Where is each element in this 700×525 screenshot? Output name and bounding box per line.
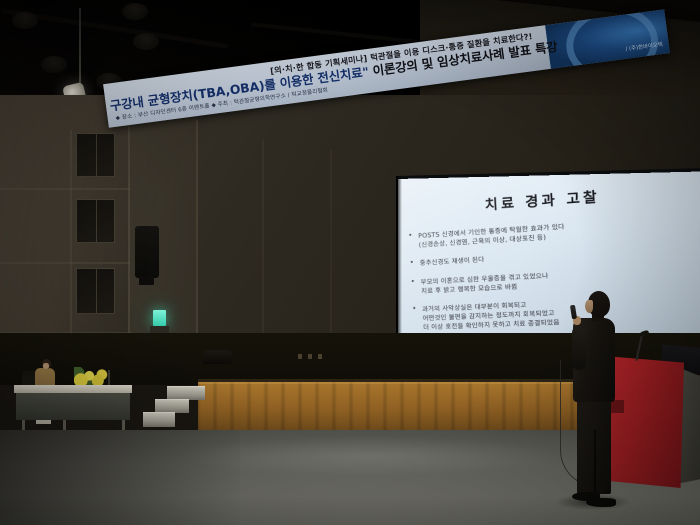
stage-step <box>167 386 205 400</box>
presenter-leg-seam <box>594 430 596 492</box>
slide-bullet: 부모의 이혼으로 심한 우울증을 겪고 있었으나 치료 후 밝고 행복한 모습으… <box>407 263 700 297</box>
stage-step <box>143 412 175 427</box>
presenter-face <box>585 300 593 313</box>
wall-seam <box>262 140 264 340</box>
seated-person-face <box>43 363 49 369</box>
head-table-top <box>14 385 132 393</box>
wall-recess-panel <box>76 133 115 177</box>
presenter-shoe <box>586 498 616 507</box>
wall-recess-panel <box>76 199 115 243</box>
slide-bullet: 과거의 사악상실은 대부분이 회복되고 어떤것인 불편을 감지하는 정도까지 회… <box>408 292 700 333</box>
wall-seam <box>0 188 130 190</box>
table-microphone-icon <box>108 370 110 385</box>
stage-marker-dots <box>298 354 328 359</box>
lecture-hall-photo: [의·치·한 합동 기획세미나] 턱관절을 이용 디스크·통증 질환을 치료한다… <box>0 0 700 525</box>
wall-seam <box>330 150 332 340</box>
ceiling-downlight-icon <box>41 56 67 73</box>
screen-edge-shadow <box>396 176 402 358</box>
wall-speaker-icon <box>135 226 159 278</box>
stage-floor-monitor-icon <box>202 350 233 364</box>
presenter-arm <box>572 326 586 370</box>
ceiling-downlight-icon <box>133 33 159 50</box>
wall-speaker-bracket <box>139 276 154 285</box>
spotlight-rod <box>79 8 81 86</box>
stage-steps[interactable] <box>143 386 205 434</box>
exit-sign <box>153 310 166 326</box>
stage-step <box>155 399 189 413</box>
ceiling-downlight-icon <box>122 3 148 20</box>
slide-title: 치료 경과 고찰 <box>484 185 600 214</box>
ceiling-downlight-icon <box>12 12 38 29</box>
head-table-skirt <box>16 393 130 420</box>
slide-bullet-list: POSTS 신경에서 기인한 통증에 탁월한 효과가 있다 (신경손상, 신경염… <box>404 213 700 343</box>
wall-recess-panel <box>76 268 115 314</box>
floor-reflection <box>180 436 560 476</box>
wall-seam <box>0 262 130 264</box>
